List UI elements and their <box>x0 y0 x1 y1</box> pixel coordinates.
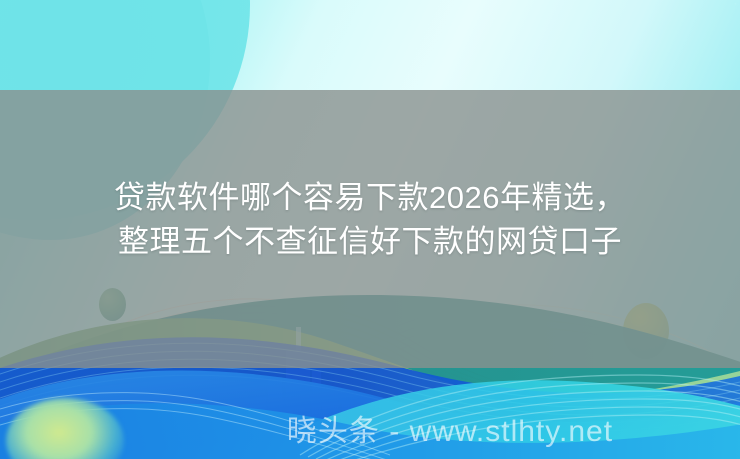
poster-canvas: 贷款软件哪个容易下款2026年精选， 整理五个不查征信好下款的网贷口子 晓头条 … <box>0 0 740 459</box>
watermark-text: 晓头条 - www.stlhty.net <box>0 406 740 450</box>
page-title: 贷款软件哪个容易下款2026年精选， 整理五个不查征信好下款的网贷口子 <box>0 176 740 264</box>
